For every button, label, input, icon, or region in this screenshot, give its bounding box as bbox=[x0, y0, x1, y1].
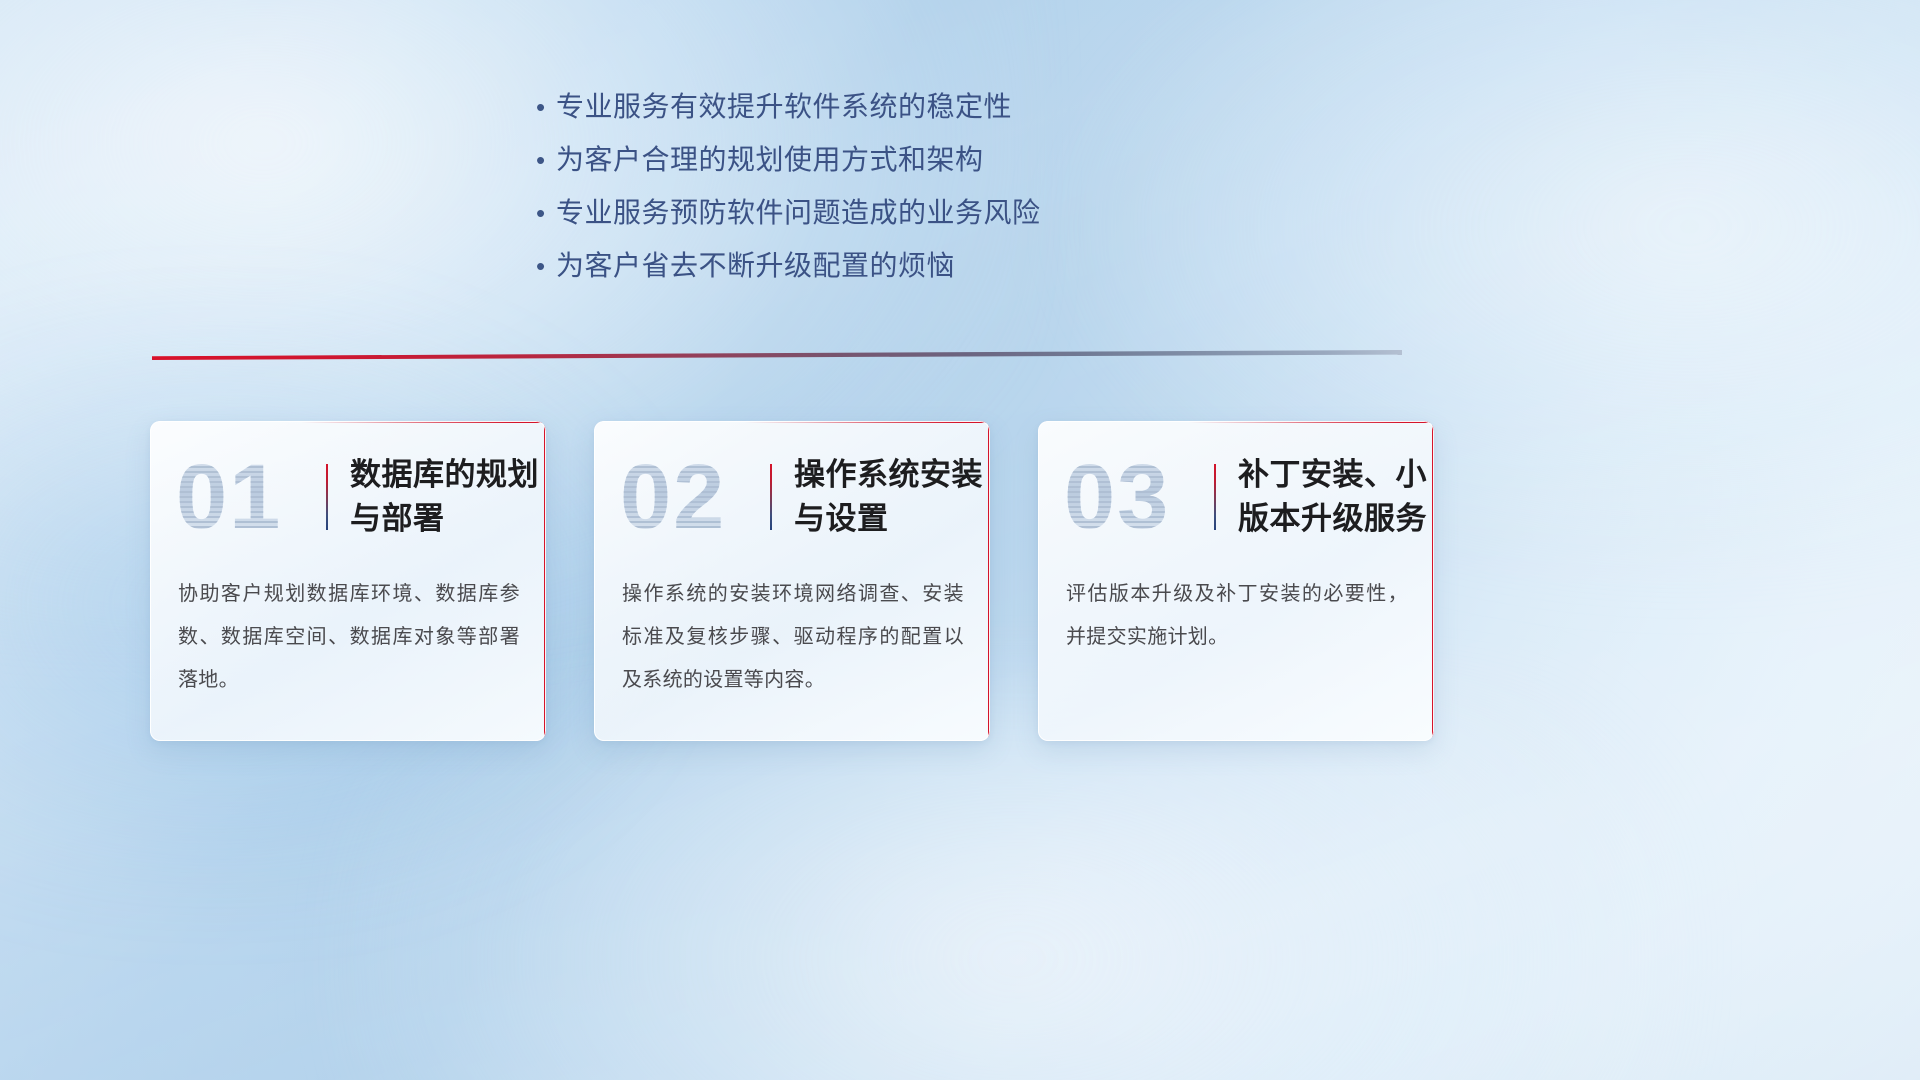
bullet-dot-icon: • bbox=[530, 247, 556, 285]
list-item: • 为客户合理的规划使用方式和架构 bbox=[530, 141, 1290, 194]
card-number-watermark: 01 bbox=[176, 451, 326, 543]
list-item: • 专业服务有效提升软件系统的稳定性 bbox=[530, 88, 1290, 141]
bullet-item-label: 专业服务预防软件问题造成的业务风险 bbox=[556, 194, 1041, 232]
bullet-dot-icon: • bbox=[530, 194, 556, 232]
service-card-01[interactable]: 01 数据库的规划与部署 协助客户规划数据库环境、数据库参数、数据库空间、数据库… bbox=[150, 421, 546, 741]
bullet-item-label: 专业服务有效提升软件系统的稳定性 bbox=[556, 88, 1012, 126]
slide-canvas: • 专业服务有效提升软件系统的稳定性 • 为客户合理的规划使用方式和架构 • 专… bbox=[0, 0, 1920, 1080]
service-card-list: 01 数据库的规划与部署 协助客户规划数据库环境、数据库参数、数据库空间、数据库… bbox=[150, 421, 1770, 741]
card-title: 补丁安装、小版本升级服务 bbox=[1238, 453, 1434, 541]
bullet-dot-icon: • bbox=[530, 141, 556, 179]
card-title: 操作系统安装与设置 bbox=[794, 453, 990, 541]
bullet-item-label: 为客户合理的规划使用方式和架构 bbox=[556, 141, 984, 179]
card-description: 操作系统的安装环境网络调查、安装标准及复核步骤、驱动程序的配置以及系统的设置等内… bbox=[594, 573, 990, 702]
card-divider-bar bbox=[770, 464, 772, 530]
card-number-watermark: 02 bbox=[620, 451, 770, 543]
card-header: 03 补丁安装、小版本升级服务 bbox=[1038, 421, 1434, 573]
bullet-item-label: 为客户省去不断升级配置的烦恼 bbox=[556, 247, 955, 285]
list-item: • 专业服务预防软件问题造成的业务风险 bbox=[530, 194, 1290, 247]
card-description: 评估版本升级及补丁安装的必要性，并提交实施计划。 bbox=[1038, 573, 1434, 659]
divider-gradient-bar bbox=[152, 350, 1402, 360]
list-item: • 为客户省去不断升级配置的烦恼 bbox=[530, 247, 1290, 300]
card-header: 01 数据库的规划与部署 bbox=[150, 421, 546, 573]
card-header: 02 操作系统安装与设置 bbox=[594, 421, 990, 573]
service-card-03[interactable]: 03 补丁安装、小版本升级服务 评估版本升级及补丁安装的必要性，并提交实施计划。 bbox=[1038, 421, 1434, 741]
bullet-dot-icon: • bbox=[530, 88, 556, 126]
card-divider-bar bbox=[326, 464, 328, 530]
benefits-bullet-list: • 专业服务有效提升软件系统的稳定性 • 为客户合理的规划使用方式和架构 • 专… bbox=[530, 88, 1290, 300]
section-divider bbox=[152, 350, 1402, 360]
card-divider-bar bbox=[1214, 464, 1216, 530]
card-number-watermark: 03 bbox=[1064, 451, 1214, 543]
card-description: 协助客户规划数据库环境、数据库参数、数据库空间、数据库对象等部署落地。 bbox=[150, 573, 546, 702]
card-title: 数据库的规划与部署 bbox=[350, 453, 546, 541]
service-card-02[interactable]: 02 操作系统安装与设置 操作系统的安装环境网络调查、安装标准及复核步骤、驱动程… bbox=[594, 421, 990, 741]
